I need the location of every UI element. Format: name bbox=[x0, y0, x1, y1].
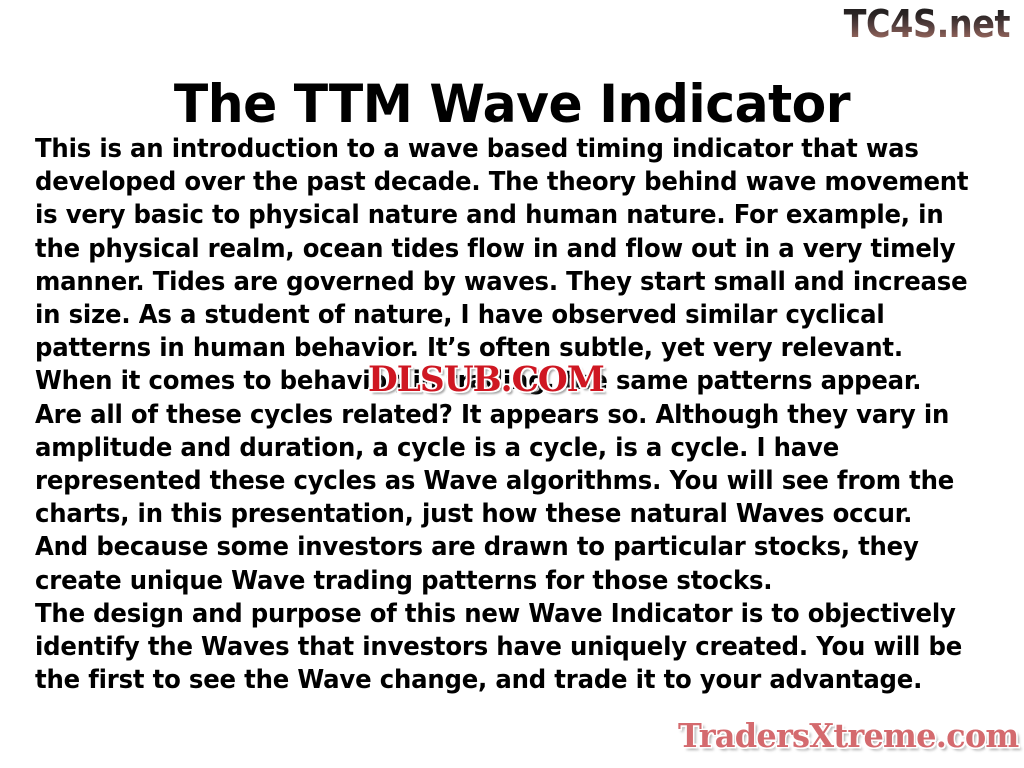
body-line: identify the Waves that investors have u… bbox=[35, 631, 958, 664]
body-line: the first to see the Wave change, and tr… bbox=[35, 664, 958, 697]
dlsub-watermark: DLSUB.COM bbox=[368, 360, 604, 400]
page-title: The TTM Wave Indicator bbox=[26, 74, 999, 136]
body-paragraph-block: This is an introduction to a wave based … bbox=[35, 133, 958, 697]
body-line: charts, in this presentation, just how t… bbox=[35, 498, 958, 531]
body-line: Are all of these cycles related? It appe… bbox=[35, 399, 958, 432]
body-line: create unique Wave trading patterns for … bbox=[35, 565, 958, 598]
body-line: This is an introduction to a wave based … bbox=[35, 133, 958, 166]
body-line: represented these cycles as Wave algorit… bbox=[35, 465, 958, 498]
tc4s-brand-logo: TC4S.net bbox=[844, 2, 1010, 46]
body-line: the physical realm, ocean tides flow in … bbox=[35, 233, 958, 266]
body-line: And because some investors are drawn to … bbox=[35, 531, 958, 564]
body-line: The design and purpose of this new Wave … bbox=[35, 598, 958, 631]
body-line: amplitude and duration, a cycle is a cyc… bbox=[35, 432, 958, 465]
presentation-slide: TC4S.net The TTM Wave Indicator This is … bbox=[0, 0, 1024, 768]
body-line: in size. As a student of nature, I have … bbox=[35, 299, 958, 332]
body-line: manner. Tides are governed by waves. The… bbox=[35, 266, 958, 299]
body-line: is very basic to physical nature and hum… bbox=[35, 199, 958, 232]
tradersxtreme-watermark: TradersXtreme.com bbox=[678, 716, 1018, 756]
body-line: developed over the past decade. The theo… bbox=[35, 166, 958, 199]
